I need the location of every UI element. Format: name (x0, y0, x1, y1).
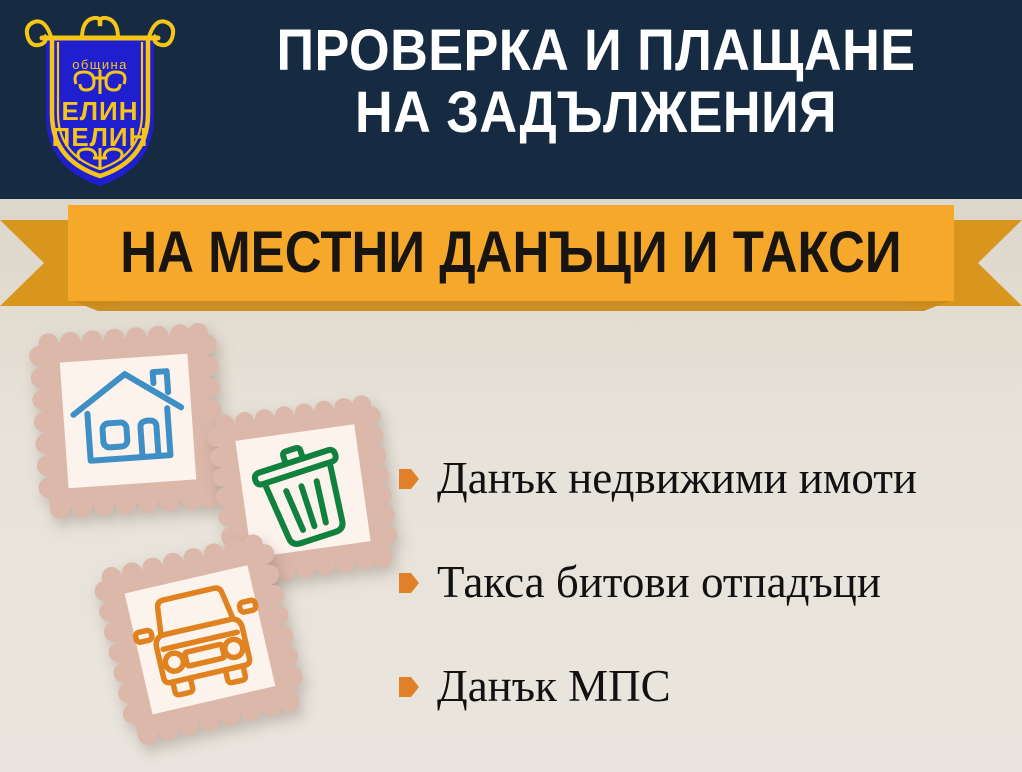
bullet-arrow-icon (398, 674, 420, 700)
bullet-arrow-icon (398, 570, 420, 596)
list-item-label: Данък недвижими имоти (437, 453, 917, 503)
ribbon-face: НА МЕСТНИ ДАНЪЦИ И ТАКСИ (68, 205, 954, 301)
crest-text-obshtina: община (72, 57, 127, 72)
list-item[interactable]: Данък МПС (398, 634, 1008, 738)
municipality-crest-logo: община ЕЛИН ПЕЛИН (24, 8, 176, 191)
ribbon-label: НА МЕСТНИ ДАНЪЦИ И ТАКСИ (120, 223, 901, 283)
list-item-label: Данък МПС (437, 661, 671, 711)
title-line-1: ПРОВЕРКА И ПЛАЩАНЕ (227, 20, 965, 82)
stamp-card-car (92, 533, 307, 748)
obligations-list: Данък недвижими имоти Такса битови отпад… (398, 426, 1008, 738)
bullet-arrow-icon (398, 466, 420, 492)
list-item[interactable]: Данък недвижими имоти (398, 426, 1008, 530)
subtitle-ribbon: НА МЕСТНИ ДАНЪЦИ И ТАКСИ (0, 196, 1022, 311)
poster-title: ПРОВЕРКА И ПЛАЩАНЕ НА ЗАДЪЛЖЕНИЯ (186, 20, 1006, 144)
list-item[interactable]: Такса битови отпадъци (398, 530, 1008, 634)
title-line-2: НА ЗАДЪЛЖЕНИЯ (227, 82, 965, 144)
crest-text-pelin: ПЕЛИН (52, 122, 149, 152)
list-item-label: Такса битови отпадъци (437, 557, 881, 607)
poster-canvas: община ЕЛИН ПЕЛИН ПРОВЕРКА И ПЛАЩАНЕ НА … (0, 0, 1022, 772)
